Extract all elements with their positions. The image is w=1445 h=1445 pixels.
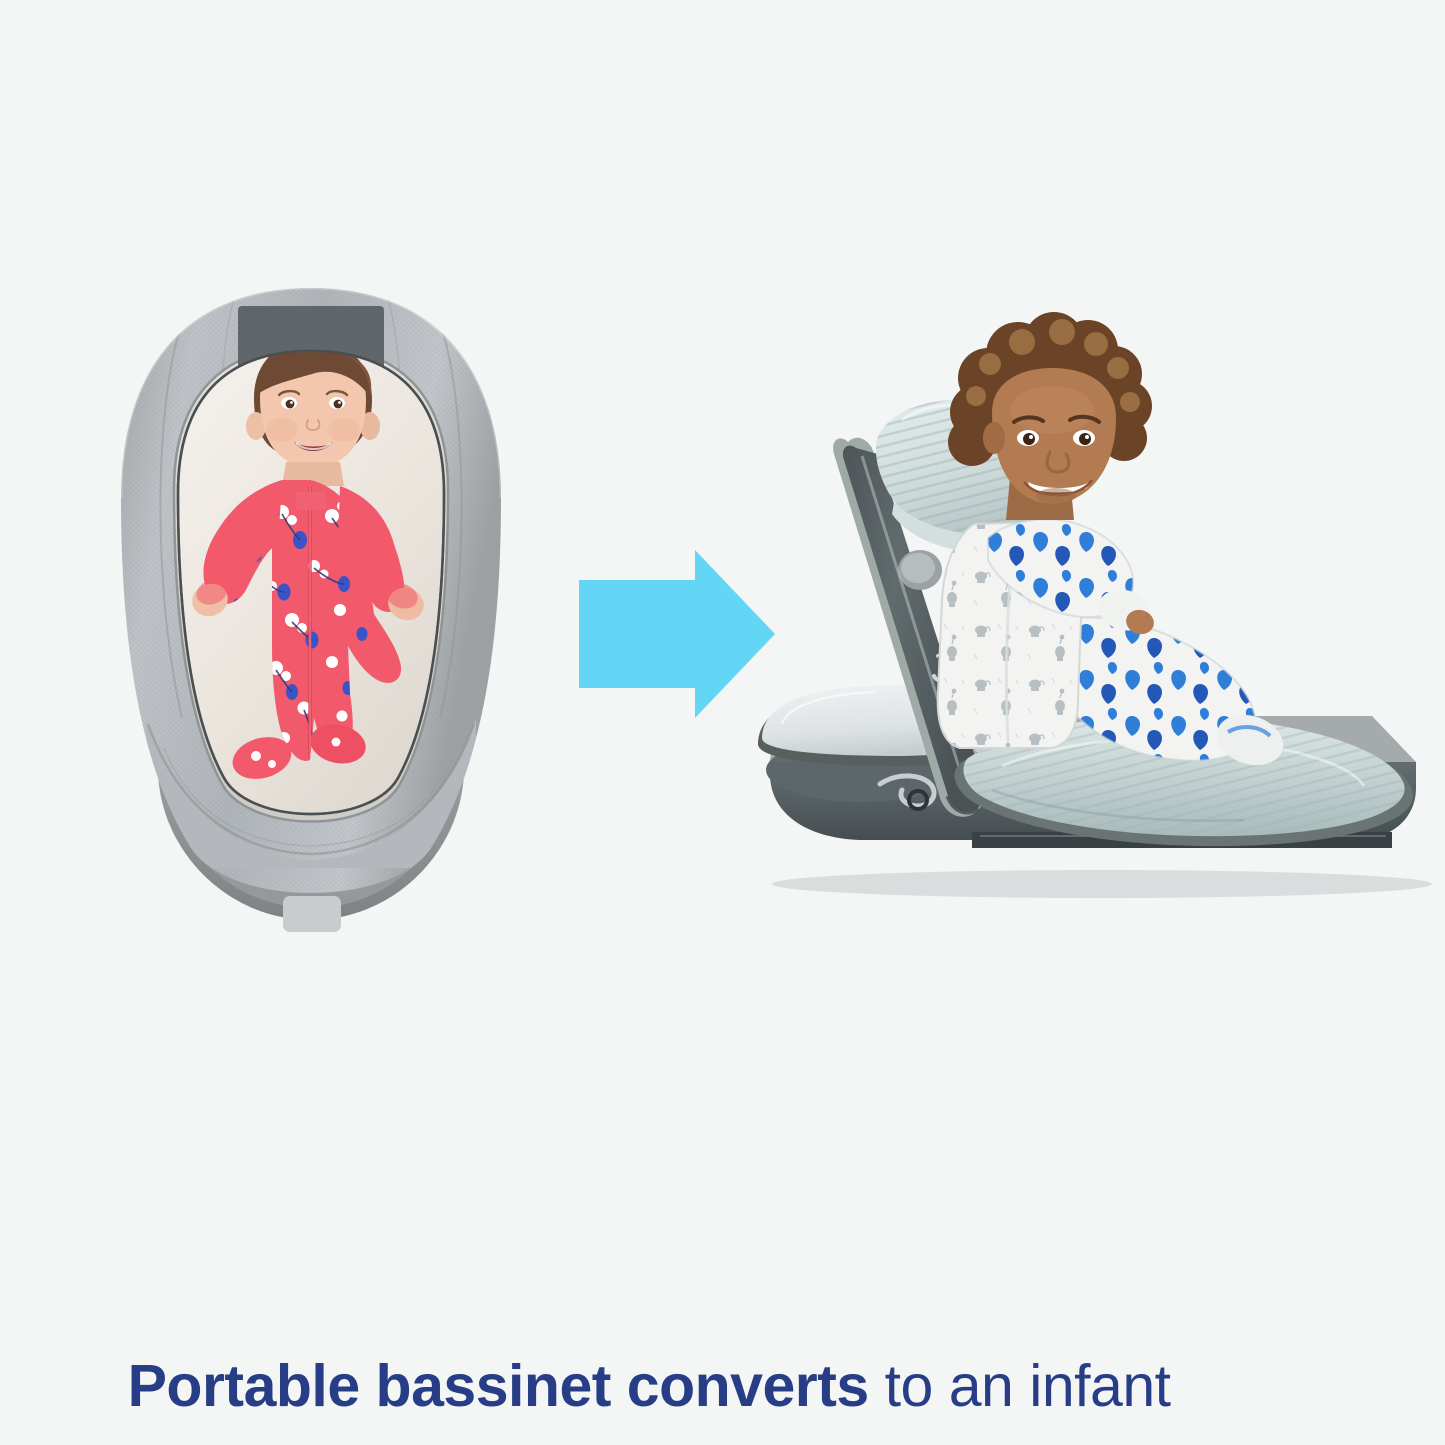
product-feature-panel: Portable bassinet converts to an infant … [0,0,1445,1445]
infant-floor-seat-photo [752,292,1442,902]
caption-bold: Portable bassinet converts [128,1353,869,1419]
feature-caption: Portable bassinet converts to an infant … [64,1236,1244,1445]
portable-bassinet-photo [86,248,536,948]
toddler-in-floor-seat [932,312,1290,782]
bassinet-foot-tab [283,896,341,932]
arrow-right-icon [575,548,779,720]
